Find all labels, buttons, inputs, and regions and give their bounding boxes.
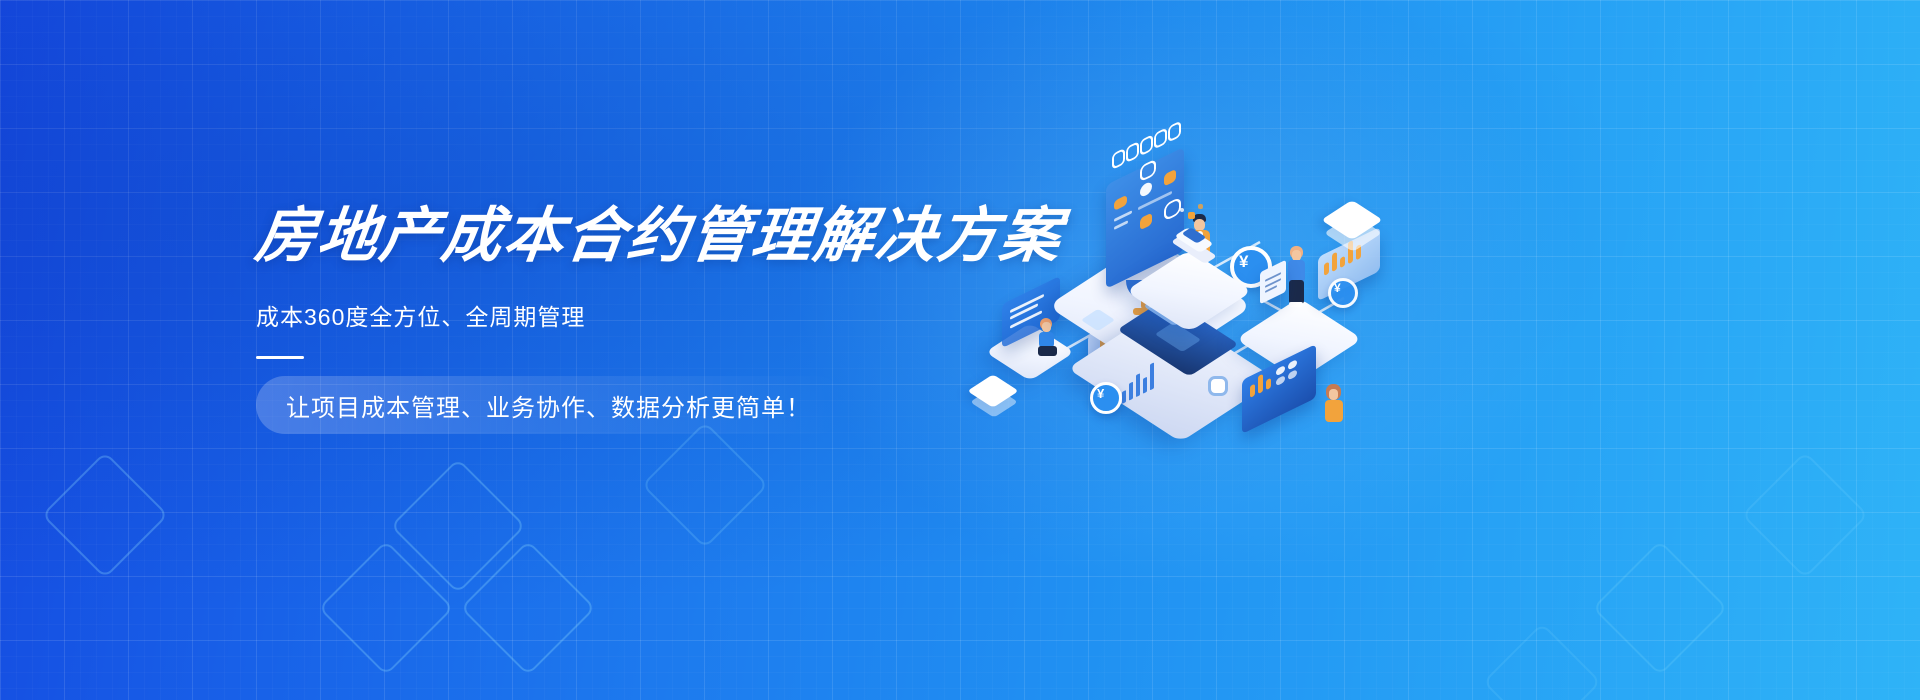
tagline-text: 让项目成本管理、业务协作、数据分析更简单！ (286, 388, 811, 423)
skirt (1289, 280, 1304, 304)
coin-symbol: ¥ (1334, 281, 1341, 295)
server-knob (1208, 376, 1228, 396)
coin-yuan-icon (1328, 278, 1358, 308)
coin-symbol: ¥ (1239, 252, 1248, 272)
hero-subtitle: 成本360度全方位、全周期管理 (256, 298, 1016, 332)
shoe (1289, 302, 1303, 307)
coin-yuan-icon (1090, 382, 1122, 414)
top (1325, 400, 1343, 422)
hero-illustration: ¥ (930, 150, 1400, 450)
page-title: 房地产成本合约管理解决方案 (252, 206, 1019, 266)
coin-symbol: ¥ (1097, 386, 1104, 401)
hero-banner: 房地产成本合约管理解决方案 成本360度全方位、全周期管理 让项目成本管理、业务… (0, 0, 1920, 700)
head (1042, 322, 1051, 332)
legs (1038, 346, 1057, 356)
tagline-pill: 让项目成本管理、业务协作、数据分析更简单！ (256, 376, 845, 434)
top (1288, 260, 1305, 282)
head (1329, 389, 1338, 400)
hero-copy: 房地产成本合约管理解决方案 成本360度全方位、全周期管理 (256, 206, 1016, 359)
title-divider (256, 356, 304, 359)
